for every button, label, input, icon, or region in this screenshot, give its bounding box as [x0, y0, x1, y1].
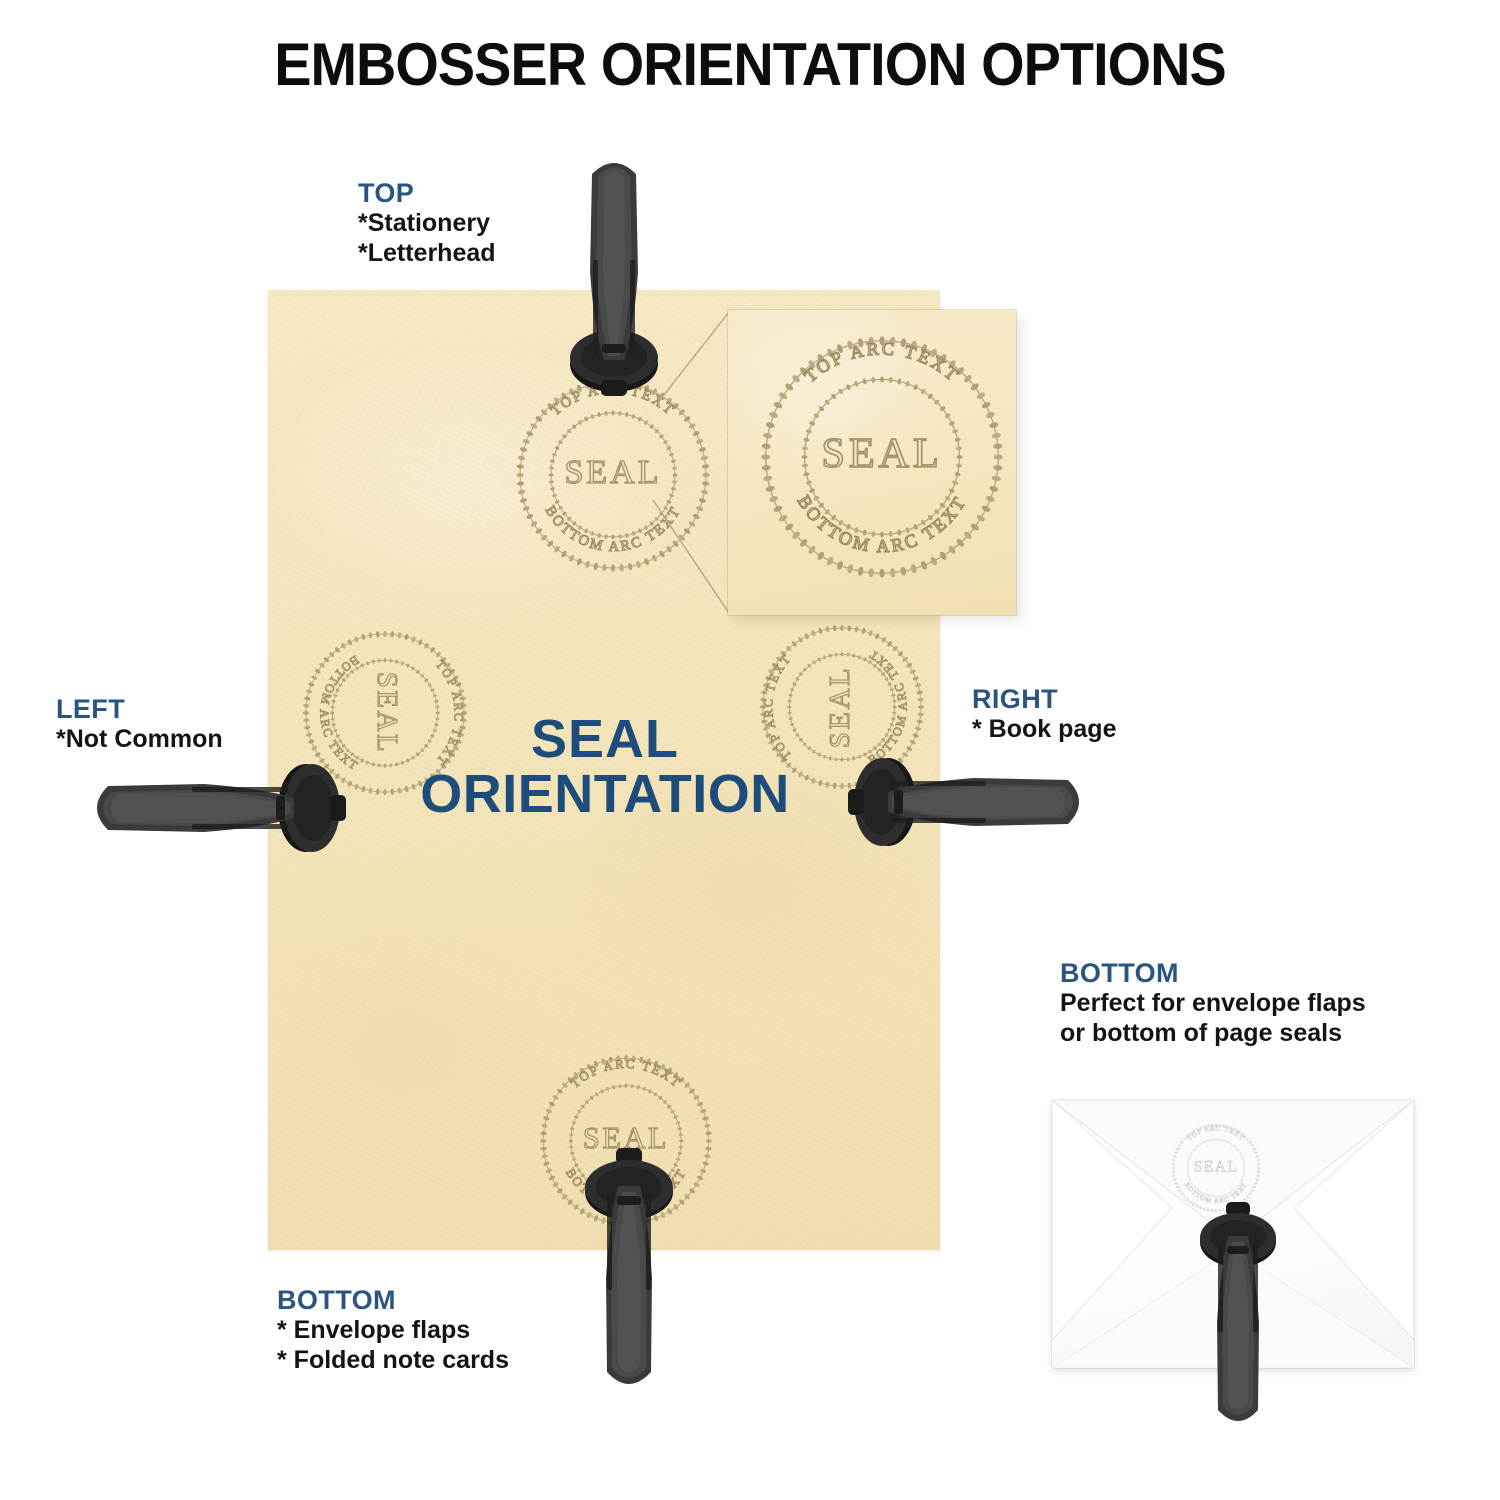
seal-callout: TOP ARC TEXT BOTTOM ARC TEXT SEAL	[757, 332, 1007, 582]
label-left-heading: LEFT	[56, 694, 223, 724]
seal-top-arc-text: TOP ARC TEXT	[800, 338, 964, 386]
label-bottom-left-heading: BOTTOM	[277, 1285, 509, 1315]
center-headline: SEAL ORIENTATION	[390, 712, 820, 822]
label-left-line-0: *Not Common	[56, 724, 223, 754]
label-top-line-1: *Letterhead	[358, 238, 496, 268]
label-bottom-right-line-1: or bottom of page seals	[1060, 1018, 1366, 1048]
diagram-canvas: EMBOSSER ORIENTATION OPTIONS TOP ARC TEX…	[0, 0, 1500, 1500]
seal-inner-bead-ring	[802, 377, 963, 538]
white-envelope: TOP ARC TEXT BOTTOM ARC TEXT SEAL	[1052, 1100, 1414, 1368]
label-right-line-0: * Book page	[972, 714, 1116, 744]
label-bottom-right-line-0: Perfect for envelope flaps	[1060, 988, 1366, 1018]
label-bottom-left: BOTTOM * Envelope flaps * Folded note ca…	[277, 1285, 509, 1375]
label-bottom-left-line-1: * Folded note cards	[277, 1345, 509, 1375]
envelope-flaps	[1052, 1100, 1414, 1368]
label-left: LEFT *Not Common	[56, 694, 223, 754]
page-title: EMBOSSER ORIENTATION OPTIONS	[53, 30, 1448, 99]
label-right-heading: RIGHT	[972, 684, 1116, 714]
magnified-seal-callout: TOP ARC TEXT BOTTOM ARC TEXT SEAL	[728, 310, 1016, 615]
label-right: RIGHT * Book page	[972, 684, 1116, 744]
label-top: TOP *Stationery *Letterhead	[358, 178, 496, 268]
center-headline-line1: SEAL	[390, 712, 820, 767]
seal-outer-bead-ring	[761, 336, 1003, 578]
label-bottom-left-line-0: * Envelope flaps	[277, 1315, 509, 1345]
label-top-heading: TOP	[358, 178, 496, 208]
seal-center-text: SEAL	[821, 430, 942, 477]
label-bottom-right: BOTTOM Perfect for envelope flaps or bot…	[1060, 958, 1366, 1048]
label-top-line-0: *Stationery	[358, 208, 496, 238]
label-bottom-right-heading: BOTTOM	[1060, 958, 1366, 988]
seal-bottom-arc-text: BOTTOM ARC TEXT	[794, 492, 971, 556]
center-headline-line2: ORIENTATION	[390, 767, 820, 822]
